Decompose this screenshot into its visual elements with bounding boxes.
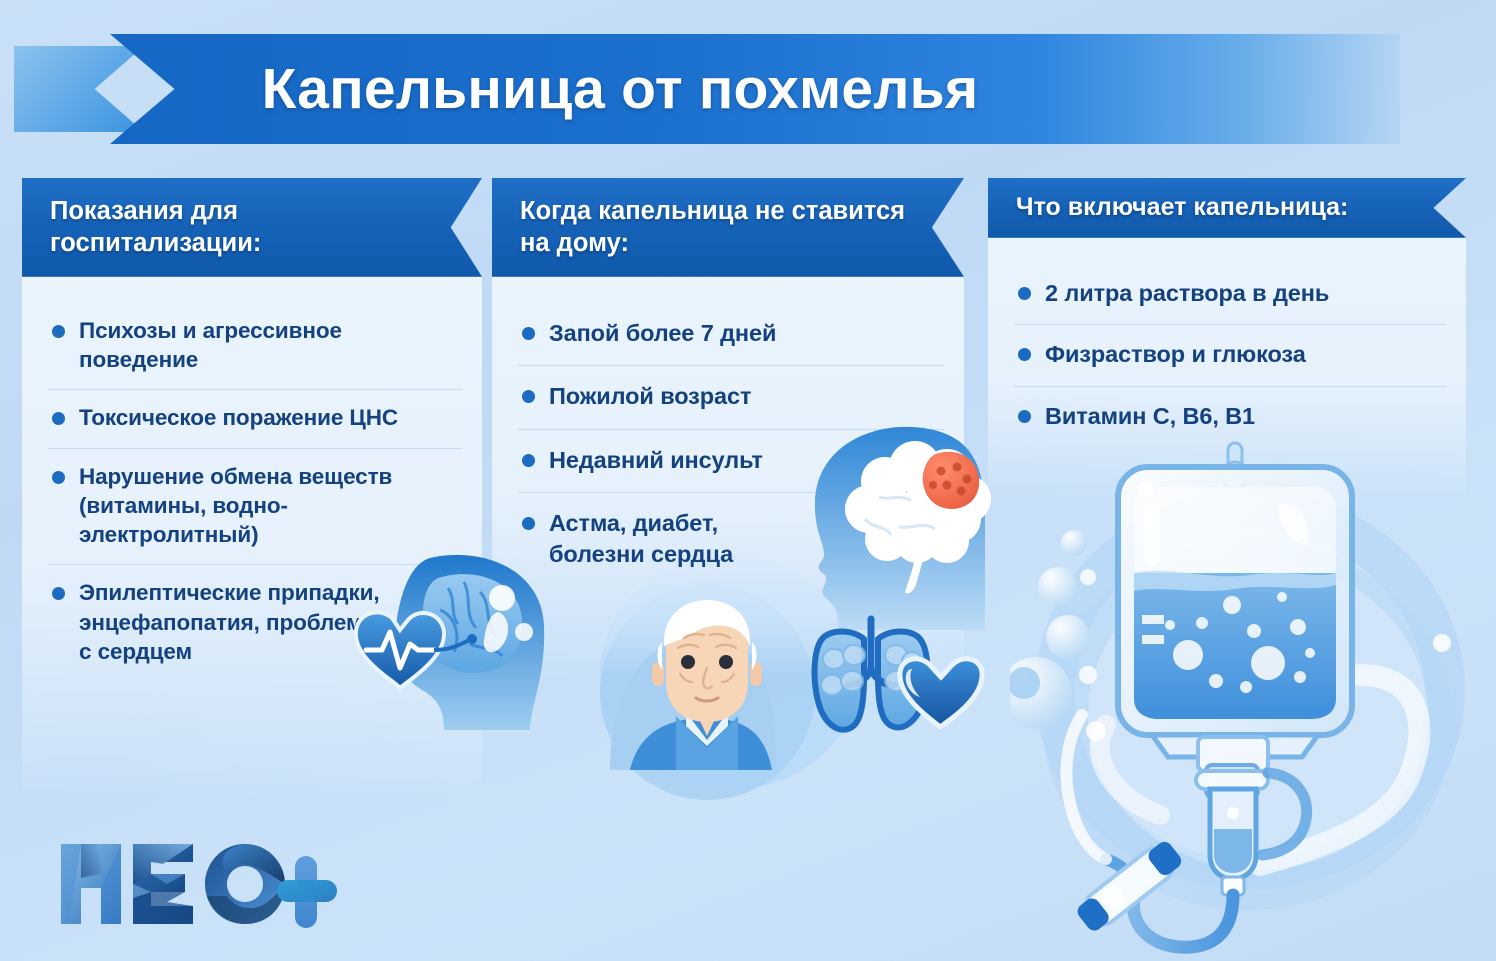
list-item: Эпилептические припадки, энцефапопатия, … <box>48 565 462 681</box>
list-item-label: Астма, диабет, болезни сердца <box>549 508 733 569</box>
list-item: Нарушение обмена веществ (витамины, водн… <box>48 449 462 566</box>
column-1-body: Психозы и агрессивное поведение Токсичес… <box>22 277 482 797</box>
column-3-list: 2 литра раствора в день Физраствор и глю… <box>1014 264 1446 448</box>
list-item-label: Запой более 7 дней <box>549 318 776 349</box>
bullet-dot-icon <box>52 412 65 425</box>
bullet-dot-icon <box>522 327 535 340</box>
iv-bag-icon <box>1010 425 1490 961</box>
title-banner: Капельница от похмелья <box>110 34 1400 144</box>
bullet-dot-icon <box>522 454 535 467</box>
list-item: Физраствор и глюкоза <box>1014 325 1446 387</box>
column-3-header: Что включает капельница: <box>988 178 1466 238</box>
list-item-label: Недавний инсульт <box>549 445 763 476</box>
column-2-body: Запой более 7 дней Пожилой возраст Недав… <box>492 277 964 677</box>
bullet-dot-icon <box>52 471 65 484</box>
list-item-label: Психозы и агрессивное поведение <box>79 316 342 375</box>
bullet-dot-icon <box>1018 348 1031 361</box>
list-item: Запой более 7 дней <box>518 303 944 367</box>
column-1-list: Психозы и агрессивное поведение Токсичес… <box>48 303 462 681</box>
background-blob <box>1075 530 1425 860</box>
bullet-dot-icon <box>522 390 535 403</box>
page-title: Капельница от похмелья <box>110 34 1400 144</box>
bullet-dot-icon <box>52 587 65 600</box>
list-item-label: Витамин С, В6, В1 <box>1045 401 1255 432</box>
list-item-label: Эпилептические припадки, энцефапопатия, … <box>79 578 382 666</box>
column-2-list: Запой более 7 дней Пожилой возраст Недав… <box>518 303 944 587</box>
bullet-dot-icon <box>1018 287 1031 300</box>
list-item: Астма, диабет, болезни сердца <box>518 493 944 586</box>
list-item: Пожилой возраст <box>518 366 944 430</box>
background-blob <box>1035 490 1465 890</box>
bullet-dot-icon <box>522 517 535 530</box>
bullet-dot-icon <box>52 325 65 338</box>
column-2-header: Когда капельница не ставится на дому: <box>492 178 964 277</box>
column-1-header: Показания для госпитализации: <box>22 178 482 277</box>
bullet-dot-icon <box>1018 410 1031 423</box>
column-indications: Показания для госпитализации: Психозы и … <box>22 178 482 797</box>
list-item-label: Физраствор и глюкоза <box>1045 339 1306 370</box>
list-item: Психозы и агрессивное поведение <box>48 303 462 391</box>
list-item-label: Токсическое поражение ЦНС <box>79 403 398 432</box>
brand-logo[interactable] <box>55 832 355 937</box>
list-item: 2 литра раствора в день <box>1014 264 1446 326</box>
column-contraindications: Когда капельница не ставится на дому: За… <box>492 178 964 677</box>
list-item-label: Нарушение обмена веществ (витамины, водн… <box>79 462 458 550</box>
list-item-label: 2 литра раствора в день <box>1045 278 1329 309</box>
list-item: Токсическое поражение ЦНС <box>48 390 462 448</box>
list-item: Витамин С, В6, В1 <box>1014 387 1446 448</box>
column-3-body: 2 литра раствора в день Физраствор и глю… <box>988 238 1466 498</box>
list-item: Недавний инсульт <box>518 430 944 494</box>
list-item-label: Пожилой возраст <box>549 381 751 412</box>
column-contents: Что включает капельница: 2 литра раствор… <box>988 178 1466 498</box>
